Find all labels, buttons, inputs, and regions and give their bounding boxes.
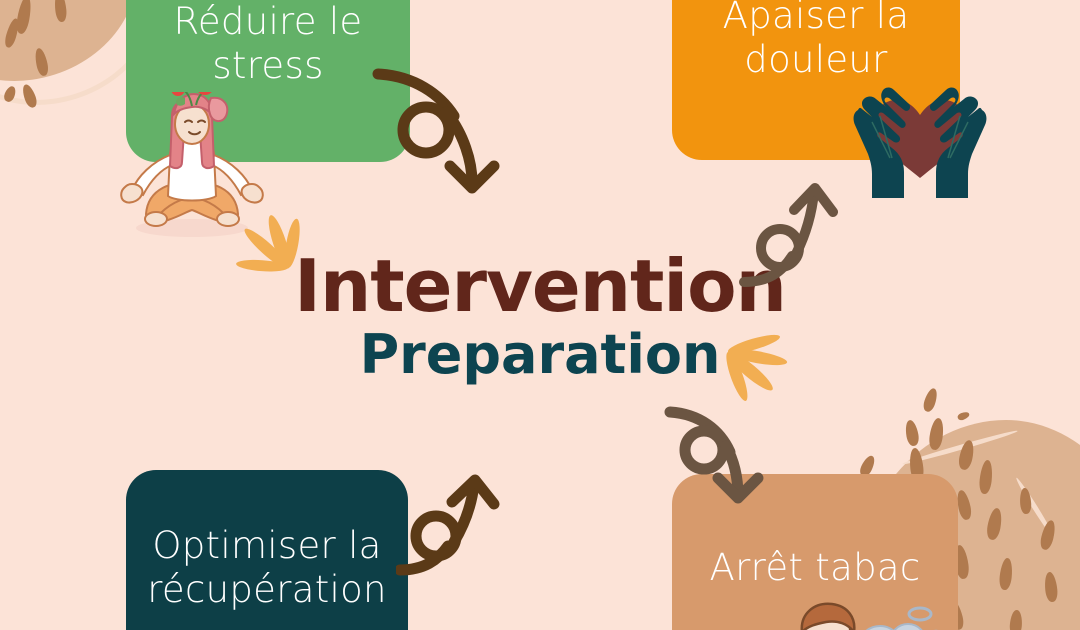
smoker-cessation-illustration xyxy=(698,598,958,630)
dash-mark xyxy=(985,507,1003,541)
card-label-line1: Arrêt tabac xyxy=(672,546,958,590)
dash-mark xyxy=(1039,519,1058,551)
dash-mark xyxy=(15,0,33,35)
card-label: Optimiser la récupération xyxy=(126,524,408,611)
card-optimiser-la-recuperation[interactable]: Optimiser la récupération xyxy=(126,470,408,630)
dash-mark xyxy=(1043,571,1058,602)
dash-mark xyxy=(904,419,920,447)
arrow-curl-down-into-card-icon xyxy=(660,398,770,510)
dash-mark xyxy=(998,557,1013,590)
dash-mark xyxy=(33,47,50,77)
blob-streak xyxy=(1014,476,1055,538)
title-main: Intervention xyxy=(0,250,1080,322)
dash-mark xyxy=(978,459,993,494)
dash-mark xyxy=(2,85,17,104)
card-label-line1: Apaiser la xyxy=(672,0,960,38)
title-sub: Preparation xyxy=(0,328,1080,382)
card-label-line2: récupération xyxy=(126,568,408,612)
card-apaiser-la-douleur[interactable]: Apaiser la douleur xyxy=(672,0,960,160)
dash-mark xyxy=(957,439,976,471)
card-label: Arrêt tabac xyxy=(672,546,958,590)
arrow-curl-up-right-icon xyxy=(738,178,838,288)
infographic-poster: Réduire le stress xyxy=(0,0,1080,630)
dash-mark xyxy=(3,17,21,49)
dash-mark xyxy=(1019,488,1032,515)
dash-mark xyxy=(20,83,39,109)
arrow-curl-down-right-icon xyxy=(368,62,508,207)
blob-streak xyxy=(902,429,1019,467)
card-label-line1: Optimiser la xyxy=(126,524,408,568)
dash-mark xyxy=(1009,610,1023,630)
page-title: Intervention Preparation xyxy=(0,250,1080,382)
card-label: Apaiser la douleur xyxy=(672,0,960,81)
dash-mark xyxy=(922,387,940,413)
arrow-curl-up-right-lower-icon xyxy=(396,472,504,584)
card-label-line2: douleur xyxy=(672,38,960,82)
card-label-line1: Réduire le xyxy=(126,0,410,44)
dash-mark xyxy=(928,417,945,450)
dash-mark xyxy=(957,411,971,422)
dash-mark xyxy=(53,0,67,22)
